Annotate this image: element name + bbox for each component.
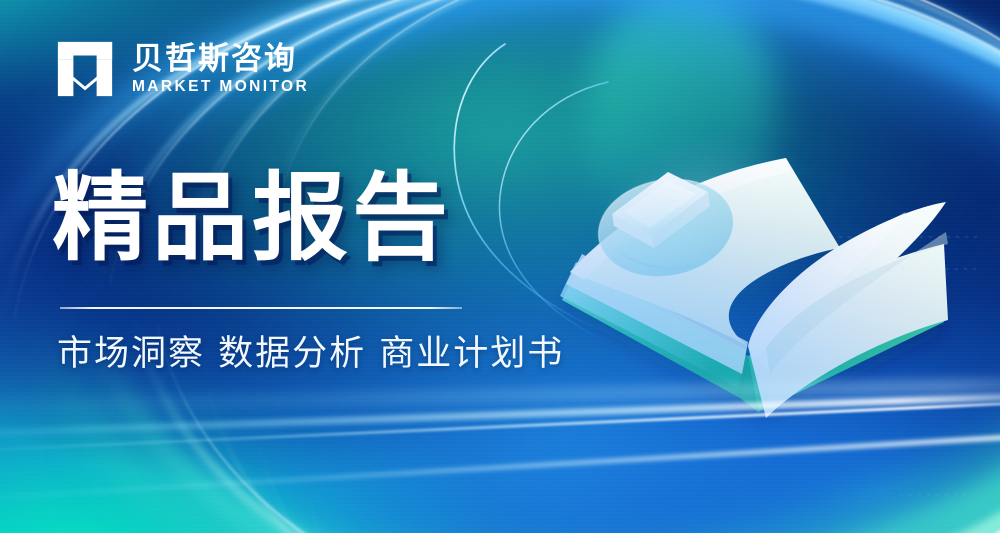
- brand-logo-text: 贝哲斯咨询 MARKET MONITOR: [132, 44, 309, 95]
- brand-name-chinese: 贝哲斯咨询: [132, 44, 309, 75]
- page-title: 精品报告: [52, 168, 452, 270]
- promo-banner: 贝哲斯咨询 MARKET MONITOR 精品报告 市场洞察 数据分析 商业计划…: [0, 0, 1000, 533]
- market-monitor-m-logo-icon: [54, 38, 116, 100]
- title-divider: [60, 307, 462, 309]
- subtitle: 市场洞察 数据分析 商业计划书: [57, 333, 564, 377]
- brand-logo[interactable]: 贝哲斯咨询 MARKET MONITOR: [54, 38, 309, 100]
- brand-name-english: MARKET MONITOR: [132, 79, 309, 95]
